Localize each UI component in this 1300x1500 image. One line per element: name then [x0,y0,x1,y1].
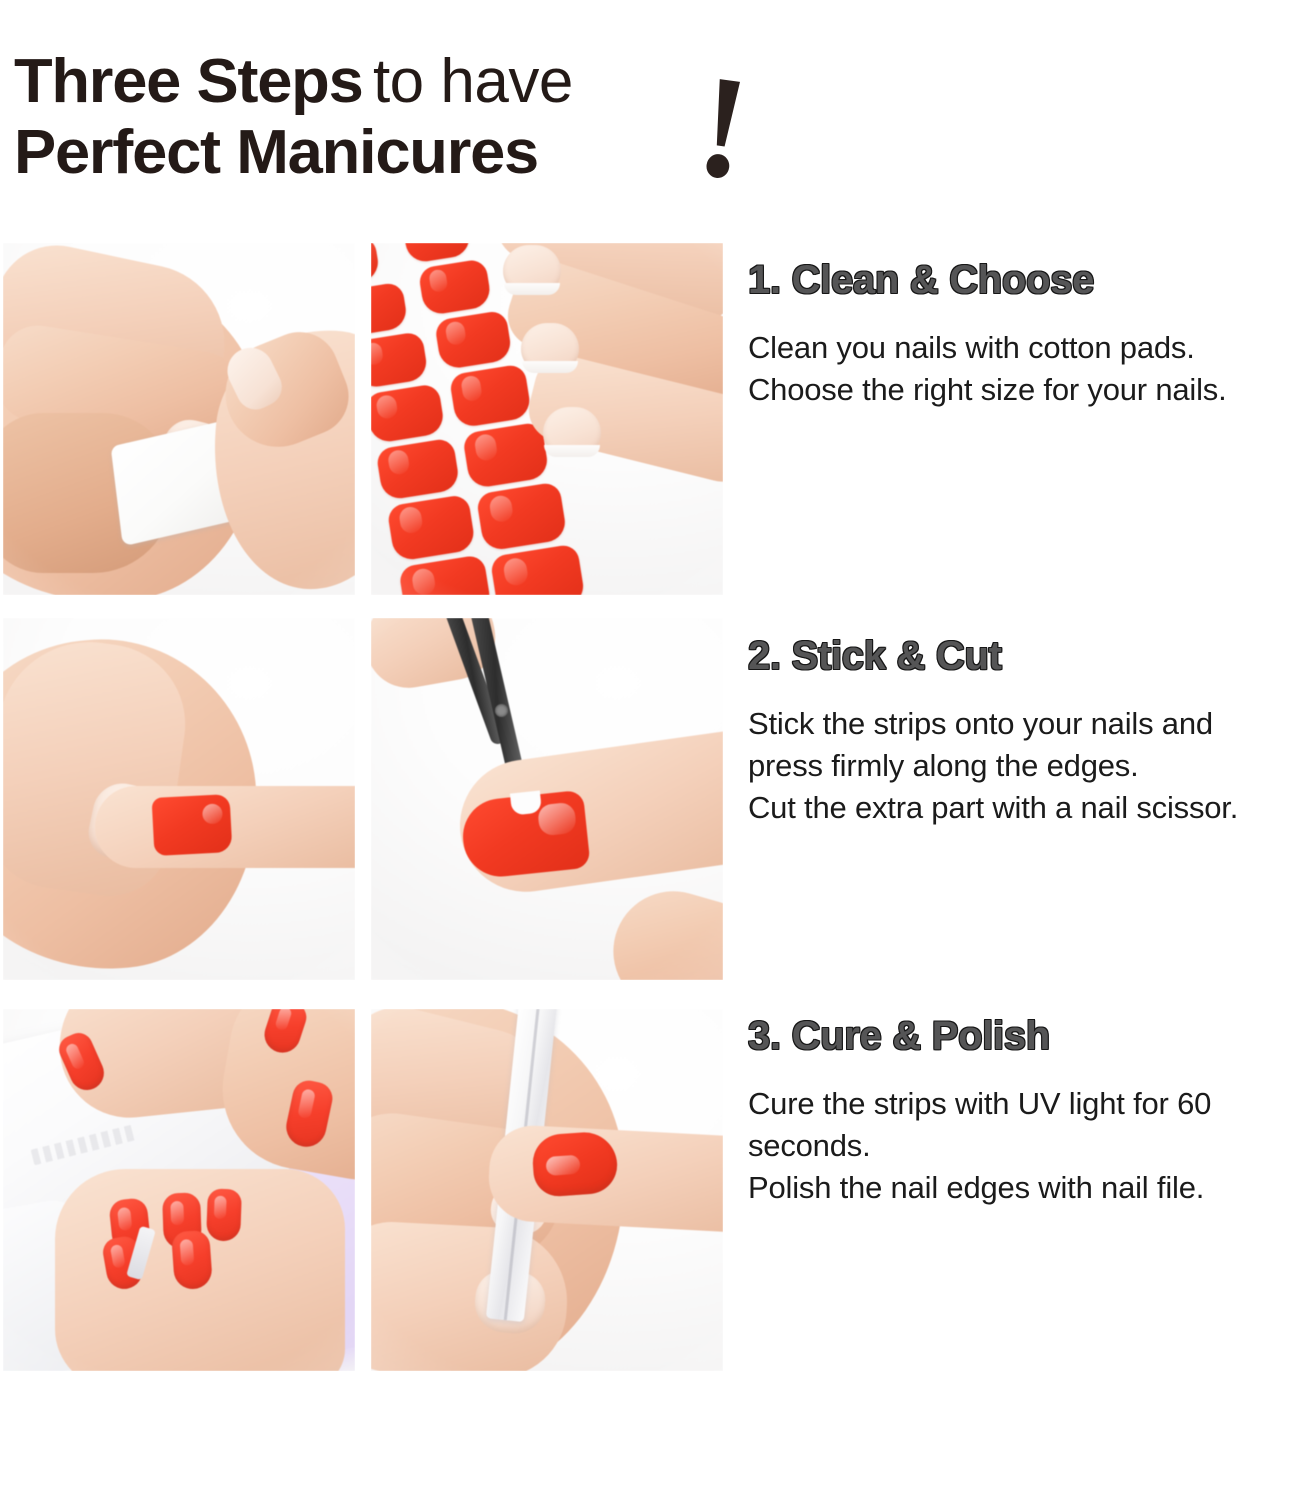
nail-tip [544,445,600,457]
photo-filing-nail-edge [371,1009,723,1371]
nail-strip [371,282,409,338]
photo-curing-nails-under-uv-lamp [3,1009,355,1371]
photo-red-nail-strip-sheet [371,243,723,595]
nail-tip [522,361,578,373]
photo-image [3,618,355,980]
step-1: 1. Clean & Choose Clean you nails with c… [748,259,1288,411]
red-nail [206,1188,242,1241]
support-finger [599,877,723,980]
nail-strip [375,437,460,501]
step-1-body: Clean you nails with cotton pads.Choose … [748,327,1288,411]
photo-image [3,1009,355,1371]
nail-strip [490,543,586,595]
photo-cutting-excess-strip-with-scissors [371,618,723,980]
photo-image [371,1009,723,1371]
red-nail [531,1130,619,1198]
step-3: 3. Cure & Polish Cure the strips with UV… [748,1015,1288,1209]
step-2-body: Stick the strips onto your nails and pre… [748,703,1288,829]
step-2-heading: 2. Stick & Cut [748,635,1288,677]
nail-strip [371,243,381,288]
title-bold-perfect-manicures: Perfect Manicures [14,123,538,184]
nail-strip [371,383,446,444]
nail-strip [386,494,476,562]
nail-strip [371,331,429,389]
photo-grid [3,243,725,1378]
step-1-heading: 1. Clean & Choose [748,259,1288,301]
hand-fingers [477,243,723,547]
photo-image [371,243,723,595]
nail-strip [398,554,492,595]
step-2: 2. Stick & Cut Stick the strips onto you… [748,635,1288,829]
step-3-heading: 3. Cure & Polish [748,1015,1288,1057]
scissor-pivot [495,704,508,717]
nail-tip [504,283,560,295]
photo-cleaning-nail-with-cotton-pad [3,243,355,595]
page-title: Three Steps to have Perfect Manicures [14,52,794,184]
title-light-to-have: to have [373,47,573,116]
photo-image [3,243,355,595]
photo-image [371,618,723,980]
title-bold-three-steps: Three Steps [14,52,363,113]
red-nail-strip [152,794,233,856]
step-3-body: Cure the strips with UV light for 60 sec… [748,1083,1288,1209]
photo-pressing-strip-onto-nail [3,618,355,980]
title-line-1: Three Steps to have [14,52,794,113]
red-nail [171,1230,213,1291]
title-line-2: Perfect Manicures [14,123,794,184]
